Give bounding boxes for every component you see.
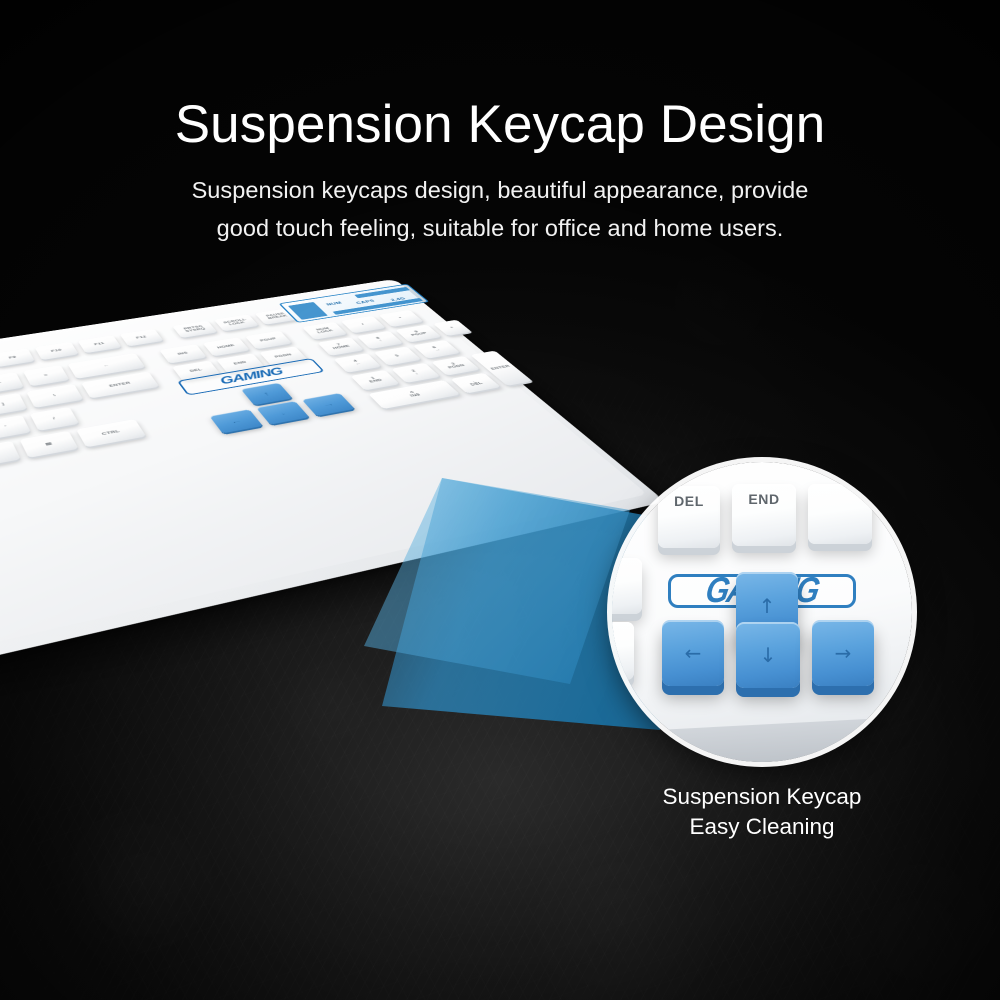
mag-key-arrow-down[interactable]: ↓ [736,622,800,688]
subtitle-line-1: Suspension keycaps design, beautiful app… [0,171,1000,209]
headline-block: Suspension Keycap Design Suspension keyc… [0,96,1000,247]
arrow-up-icon: ↑ [759,596,776,616]
caption-line-2: Easy Cleaning [600,812,924,842]
arrow-right-icon: → [835,643,852,663]
arrow-left-icon: ← [685,643,702,663]
mag-key-del[interactable]: DEL [658,486,720,548]
arrow-down-icon: ↓ [760,645,777,665]
magnifier-circle: DEL END GAMING ↑ ← ↓ → [612,462,912,762]
subtitle-line-2: good touch feeling, suitable for office … [0,209,1000,247]
caption-line-1: Suspension Keycap [600,782,924,812]
mag-key-arrow-right[interactable]: → [812,620,874,686]
magnifier-caption: Suspension Keycap Easy Cleaning [600,782,924,841]
mag-key-end[interactable]: END [732,484,796,546]
mag-key-left-partial-2[interactable] [612,622,634,680]
subtitle-block: Suspension keycaps design, beautiful app… [0,171,1000,247]
magnifier-content: DEL END GAMING ↑ ← ↓ → [612,462,912,762]
magnifier-desk-edge [612,715,912,762]
mag-key-arrow-left[interactable]: ← [662,620,724,686]
page-title: Suspension Keycap Design [0,96,1000,153]
mag-key-pgdn[interactable] [808,484,872,544]
sticker-label-num: NUM [325,301,343,306]
product-marketing-banner: Suspension Keycap Design Suspension keyc… [0,0,1000,1000]
mag-key-left-partial-1[interactable] [612,558,642,614]
